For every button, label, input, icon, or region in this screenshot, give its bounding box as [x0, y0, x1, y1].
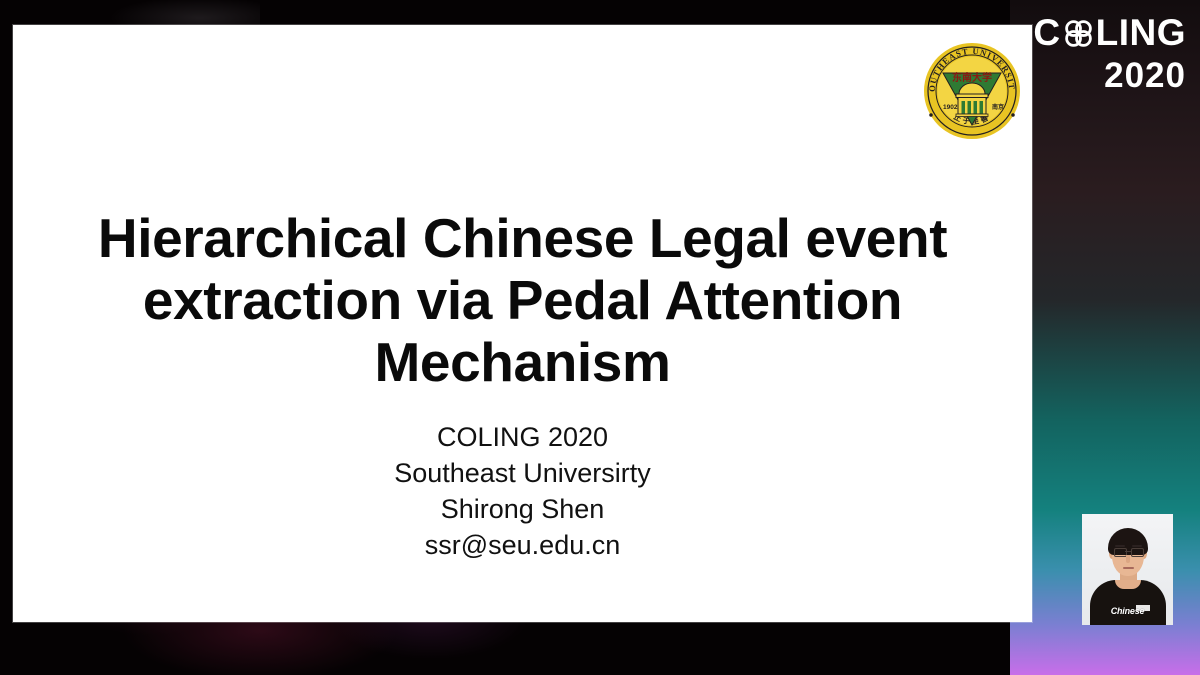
presenter-glasses-bridge: [1125, 551, 1131, 552]
presenter-webcam-thumbnail[interactable]: Chinese: [1082, 514, 1173, 625]
coling-wordmark: C LING 2020: [1033, 14, 1186, 93]
presenter-photo: Chinese: [1082, 514, 1173, 625]
slide-meta-author: Shirong Shen: [53, 492, 992, 528]
presenter-eyebrow-left: [1115, 545, 1125, 547]
presenter-eyebrow-right: [1132, 545, 1142, 547]
slide-meta-conference: COLING 2020: [53, 420, 992, 456]
presentation-recording-frame: C LING 2020: [0, 0, 1200, 675]
coling-wordmark-year: 2020: [1033, 58, 1186, 93]
slide-title: Hierarchical Chinese Legal event extract…: [53, 207, 992, 393]
coling-wordmark-suffix: LING: [1096, 14, 1186, 51]
presenter-shirt-text: Chinese: [1082, 606, 1173, 616]
slide-metadata-block: COLING 2020 Southeast Universirty Shiron…: [53, 420, 992, 564]
coling-wordmark-prefix: C: [1033, 14, 1060, 51]
coling-wordmark-line: C LING: [1033, 14, 1186, 51]
svg-text:1902: 1902: [943, 104, 958, 111]
presenter-mouth: [1123, 567, 1134, 569]
coling-knot-icon: [1062, 17, 1095, 50]
svg-text:南京: 南京: [992, 103, 1004, 111]
presenter-glasses-right-lens: [1131, 548, 1144, 557]
slide-meta-affiliation: Southeast Universirty: [53, 456, 992, 492]
slide-meta-email: ssr@seu.edu.cn: [53, 528, 992, 564]
slide-canvas: SOUTHEAST UNIVERSITY 止于至善 东南大学: [13, 25, 1032, 622]
presenter-nose: [1126, 555, 1130, 563]
southeast-university-seal-icon: SOUTHEAST UNIVERSITY 止于至善 东南大学: [922, 41, 1022, 141]
svg-text:东南大学: 东南大学: [952, 71, 992, 84]
